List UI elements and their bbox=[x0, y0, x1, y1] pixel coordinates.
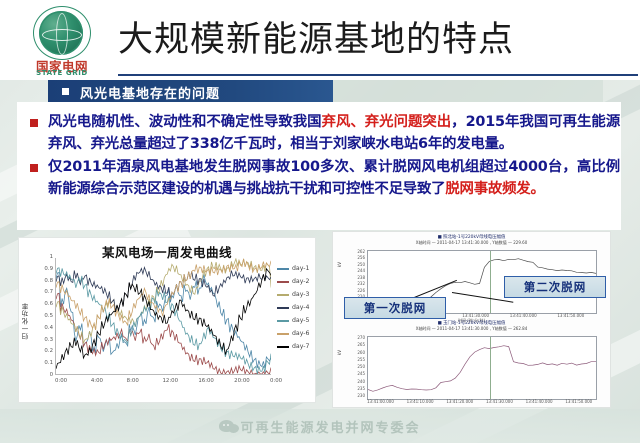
disconnect-event-chart-card: ■ 照北站-1号220kV母线电压幅值 X轴时间 — 2011-04-17 13… bbox=[333, 232, 610, 407]
first-disconnect-annotation: 第一次脱网 bbox=[344, 297, 446, 319]
bullet-marker-icon bbox=[30, 164, 38, 172]
x-tick: 20:00 bbox=[234, 378, 250, 384]
bullet-marker-icon bbox=[30, 119, 38, 127]
y-tick: 226 bbox=[357, 289, 365, 293]
upper-chart-ylabel: kV bbox=[337, 262, 342, 267]
lower-chart-plot bbox=[367, 336, 597, 400]
y-tick: 265 bbox=[357, 343, 365, 347]
y-tick: 0.3 bbox=[44, 337, 53, 343]
y-tick: 240 bbox=[357, 380, 365, 384]
upper-voltage-chart: ■ 照北站-1号220kV母线电压幅值 X轴时间 — 2011-04-17 13… bbox=[333, 234, 610, 249]
x-tick: 8:00 bbox=[127, 378, 139, 384]
lower-chart-xticks: 13:41:00.00013:41:10.00013:41:20.00013:4… bbox=[353, 399, 603, 407]
bullet-item: 风光电随机性、波动性和不确定性导致我国弃风、弃光问题突出，2015年我国可再生能… bbox=[28, 112, 620, 155]
x-tick: 16:00 bbox=[198, 378, 214, 384]
x-tick: 13:41:10.000 bbox=[407, 399, 434, 404]
y-tick: 235 bbox=[357, 387, 365, 391]
left-chart-ylabel: 归一化功率 bbox=[21, 302, 31, 340]
state-grid-logo: 国家电网 STATE GRID bbox=[27, 9, 97, 75]
y-tick: 270 bbox=[357, 336, 365, 340]
x-tick: 4:00 bbox=[91, 378, 103, 384]
x-tick: 12:00 bbox=[163, 378, 179, 384]
y-tick: 238 bbox=[357, 276, 365, 280]
footer-text: 可再生能源发电并网专委会 bbox=[240, 417, 420, 436]
bullet-list: 风光电随机性、波动性和不确定性导致我国弃风、弃光问题突出，2015年我国可再生能… bbox=[28, 112, 620, 202]
title-underline bbox=[118, 74, 638, 76]
x-tick: 13:41:30.000 bbox=[486, 399, 513, 404]
bullet-text-1: 风光电随机性、波动性和不确定性导致我国弃风、弃光问题突出，2015年我国可再生能… bbox=[48, 112, 620, 155]
lower-chart-yticks: 270265260255250245240235230 bbox=[347, 336, 365, 398]
lower-chart-svg bbox=[368, 337, 596, 399]
bullet-text-2: 仅2011年酒泉风电基地发生脱网事故100多次、累计脱网风电机组超过4000台，… bbox=[48, 157, 620, 200]
x-tick: 13:41:50.000 bbox=[565, 399, 592, 404]
left-chart-plot bbox=[55, 258, 271, 375]
legend-item: day-3 bbox=[277, 288, 315, 301]
y-tick: 260 bbox=[357, 351, 365, 355]
x-tick: 13:41:20.000 bbox=[446, 399, 473, 404]
y-tick: 245 bbox=[357, 372, 365, 376]
upper-chart-cursor bbox=[490, 251, 491, 313]
wind-farm-chart-card: 某风电场一周发电曲线 归一化功率 10.90.80.70.60.50.40.30… bbox=[19, 238, 315, 402]
slide-footer: 可再生能源发电并网专委会 bbox=[0, 409, 640, 443]
y-tick: 1 bbox=[50, 254, 53, 260]
y-tick: 0.6 bbox=[44, 301, 53, 307]
y-tick: 0.9 bbox=[44, 266, 53, 272]
subtitle-text: 风光电基地存在的问题 bbox=[80, 83, 220, 102]
subtitle-ribbon: 风光电基地存在的问题 bbox=[48, 80, 333, 102]
x-tick: 13:41:00.000 bbox=[367, 399, 394, 404]
upper-chart-subtitle: X轴时间 — 2011-04-17 13:41:30.000 , Y轴数值 — … bbox=[333, 240, 610, 246]
globe-icon bbox=[39, 11, 83, 55]
y-tick: 0.1 bbox=[44, 360, 53, 366]
page-title: 大规模新能源基地的特点 bbox=[118, 18, 514, 62]
slide-canvas: 国家电网 STATE GRID 大规模新能源基地的特点 风光电基地存在的问题 风… bbox=[0, 0, 640, 443]
y-tick: 0.7 bbox=[44, 289, 53, 295]
y-tick: 256 bbox=[357, 256, 365, 260]
left-chart-xticks: 0:004:008:0012:0016:0020:000:00 bbox=[43, 378, 279, 388]
lower-chart-ylabel: kV bbox=[337, 350, 342, 355]
y-tick: 0.2 bbox=[44, 348, 53, 354]
bullet-item: 仅2011年酒泉风电基地发生脱网事故100多次、累计脱网风电机组超过4000台，… bbox=[28, 157, 620, 200]
slide-header: 国家电网 STATE GRID 大规模新能源基地的特点 bbox=[0, 0, 640, 80]
subtitle-ribbon-tail bbox=[333, 80, 603, 102]
legend-item: day-2 bbox=[277, 275, 315, 288]
y-tick: 0.5 bbox=[44, 313, 53, 319]
y-tick: 232 bbox=[357, 282, 365, 286]
lower-voltage-chart: ■ 玉门站-1号220kV母线电压幅值 X轴时间 — 2011-04-17 13… bbox=[333, 320, 610, 335]
lower-chart-cursor bbox=[490, 337, 491, 399]
legend-item: day-5 bbox=[277, 314, 315, 327]
second-disconnect-annotation: 第二次脱网 bbox=[504, 276, 606, 298]
y-tick: 230 bbox=[357, 394, 365, 398]
legend-item: day-4 bbox=[277, 301, 315, 314]
x-tick: 0:00 bbox=[270, 378, 282, 384]
square-bullet-icon bbox=[62, 88, 69, 95]
lower-chart-header: ■ 玉门站-1号220kV母线电压幅值 X轴时间 — 2011-04-17 13… bbox=[333, 320, 610, 335]
legend-item: day-7 bbox=[277, 340, 315, 353]
y-tick: 0.4 bbox=[44, 325, 53, 331]
x-tick: 13:41:40.000 bbox=[526, 399, 553, 404]
x-tick: 0:00 bbox=[55, 378, 67, 384]
y-tick: 0.8 bbox=[44, 278, 53, 284]
left-chart-yticks: 10.90.80.70.60.50.40.30.20.10 bbox=[33, 254, 53, 378]
y-tick: 244 bbox=[357, 269, 365, 273]
left-chart-svg bbox=[56, 258, 271, 374]
upper-chart-header: ■ 照北站-1号220kV母线电压幅值 X轴时间 — 2011-04-17 13… bbox=[333, 234, 610, 249]
logo-name-en: STATE GRID bbox=[27, 69, 97, 77]
y-tick: 250 bbox=[357, 263, 365, 267]
lower-chart-subtitle: X轴时间 — 2011-04-17 13:41:30.000 , Y轴数值 — … bbox=[333, 326, 610, 332]
wechat-icon bbox=[219, 420, 234, 432]
y-tick: 250 bbox=[357, 365, 365, 369]
y-tick: 255 bbox=[357, 358, 365, 362]
left-chart-legend: day-1day-2day-3day-4day-5day-6day-7 bbox=[277, 262, 315, 353]
legend-item: day-1 bbox=[277, 262, 315, 275]
y-tick: 262 bbox=[357, 250, 365, 254]
legend-item: day-6 bbox=[277, 327, 315, 340]
